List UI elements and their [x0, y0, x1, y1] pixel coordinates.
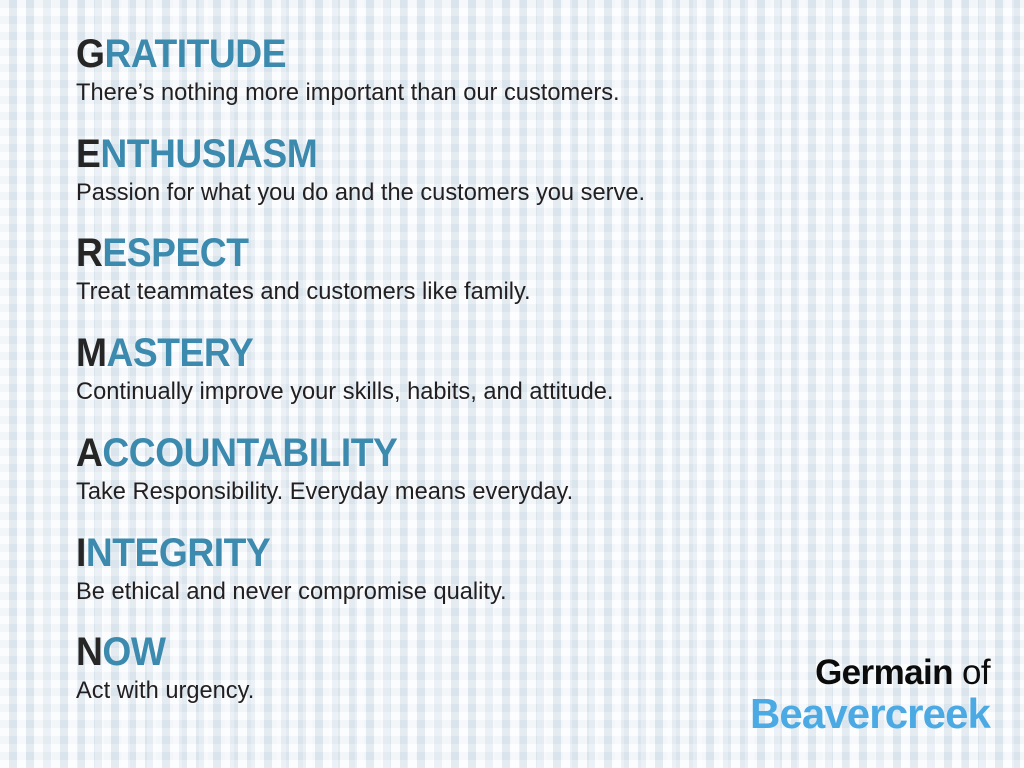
value-initial-letter: A [76, 431, 102, 475]
dealership-logo: Germain of Beavercreek [750, 654, 990, 736]
value-headline-gratitude: GRATITUDE [76, 34, 958, 74]
value-initial-letter: M [76, 331, 107, 375]
value-subtitle-mastery: Continually improve your skills, habits,… [76, 379, 991, 405]
value-subtitle-respect: Treat teammates and customers like famil… [76, 279, 991, 305]
values-poster: GRATITUDE There’s nothing more important… [0, 0, 1024, 768]
value-initial-letter: R [76, 231, 102, 275]
logo-primary-line: Germain of [750, 654, 990, 692]
value-headline-enthusiasm: ENTHUSIASM [76, 134, 958, 174]
value-remainder-text: NTEGRITY [86, 531, 270, 575]
value-block-gratitude: GRATITUDE There’s nothing more important… [76, 34, 1024, 106]
logo-brand-name: Germain [815, 653, 953, 692]
value-initial-letter: I [76, 531, 86, 575]
value-initial-letter: E [76, 132, 100, 176]
value-remainder-text: OW [102, 630, 165, 674]
value-initial-letter: G [76, 32, 104, 76]
value-headline-accountability: ACCOUNTABILITY [76, 433, 958, 473]
value-subtitle-integrity: Be ethical and never compromise quality. [76, 579, 991, 605]
values-list: GRATITUDE There’s nothing more important… [0, 0, 1024, 704]
value-subtitle-gratitude: There’s nothing more important than our … [76, 80, 991, 106]
logo-connector-word: of [962, 653, 990, 692]
logo-location-name: Beavercreek [750, 692, 990, 736]
value-block-mastery: MASTERY Continually improve your skills,… [76, 333, 1024, 405]
value-block-integrity: INTEGRITY Be ethical and never compromis… [76, 533, 1024, 605]
value-remainder-text: ASTERY [107, 331, 254, 375]
value-block-respect: RESPECT Treat teammates and customers li… [76, 233, 1024, 305]
value-headline-respect: RESPECT [76, 233, 958, 273]
value-headline-integrity: INTEGRITY [76, 533, 958, 573]
value-headline-mastery: MASTERY [76, 333, 958, 373]
value-subtitle-accountability: Take Responsibility. Everyday means ever… [76, 479, 991, 505]
value-block-enthusiasm: ENTHUSIASM Passion for what you do and t… [76, 134, 1024, 206]
value-remainder-text: CCOUNTABILITY [102, 431, 397, 475]
value-remainder-text: RATITUDE [104, 32, 286, 76]
value-remainder-text: ESPECT [102, 231, 248, 275]
value-initial-letter: N [76, 630, 102, 674]
value-subtitle-enthusiasm: Passion for what you do and the customer… [76, 180, 991, 206]
value-remainder-text: NTHUSIASM [100, 132, 317, 176]
value-block-accountability: ACCOUNTABILITY Take Responsibility. Ever… [76, 433, 1024, 505]
